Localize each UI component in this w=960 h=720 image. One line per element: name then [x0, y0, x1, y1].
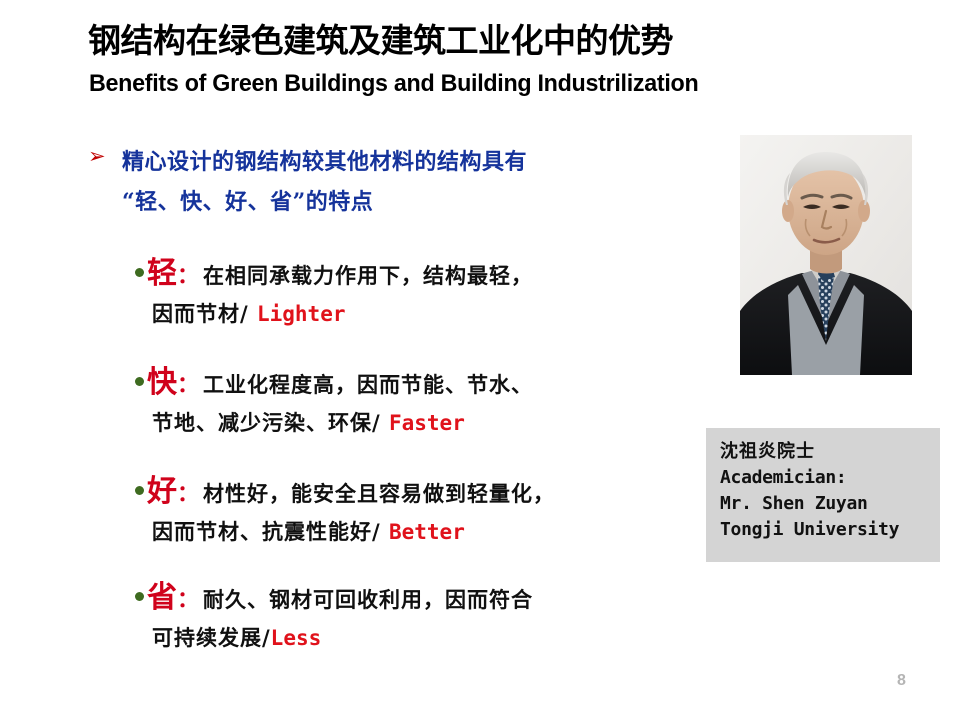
sub-bullet-sheng: 省 ： 耐久、钢材可回收利用，因而符合 可持续发展/Less: [135, 572, 735, 652]
key-colon: ：: [177, 258, 199, 290]
sub-bullet-line-1: 好 ： 材性好，能安全且容易做到轻量化，: [135, 466, 735, 510]
sub-bullet-line-2: 因而节材/ Lighter: [152, 298, 735, 328]
body-text-line1: 材性好，能安全且容易做到轻量化，: [203, 478, 555, 508]
key-colon: ：: [177, 367, 199, 399]
body-text-line2: 可持续发展/: [152, 625, 271, 650]
key-character: 好: [147, 466, 177, 510]
english-keyword: Less: [271, 626, 322, 650]
sub-bullet-kuai: 快 ： 工业化程度高，因而节能、节水、 节地、减少污染、环保/ Faster: [135, 357, 735, 437]
lead-bullet-text-line1: 精心设计的钢结构较其他材料的结构具有: [122, 142, 527, 182]
english-keyword: Lighter: [257, 302, 346, 326]
dot-bullet-icon: [135, 486, 144, 495]
sub-bullet-line-2: 因而节材、抗震性能好/ Better: [152, 516, 735, 546]
sub-bullet-line-1: 省 ： 耐久、钢材可回收利用，因而符合: [135, 572, 735, 616]
sub-bullet-line-1: 轻 ： 在相同承载力作用下，结构最轻，: [135, 248, 735, 292]
sub-bullet-line-2: 节地、减少污染、环保/ Faster: [152, 407, 735, 437]
english-keyword: Faster: [389, 411, 465, 435]
portrait-photo: [740, 135, 912, 375]
portrait-photo-svg: [740, 135, 912, 375]
arrow-bullet-icon: ➢: [88, 142, 122, 167]
caption-name-chinese: 沈祖炎院士: [720, 438, 940, 465]
sub-bullet-line-2: 可持续发展/Less: [152, 622, 735, 652]
caption-name-english: Mr. Shen Zuyan: [720, 491, 940, 517]
body-text-line2: 因而节材、抗震性能好/: [152, 519, 389, 544]
key-character: 快: [147, 357, 177, 401]
key-character: 轻: [147, 248, 177, 292]
page-title-english: Benefits of Green Buildings and Building…: [89, 70, 698, 98]
lead-bullet-text-line2: “轻、快、好、省”的特点: [122, 182, 708, 222]
english-keyword: Better: [389, 520, 465, 544]
body-text-line2: 节地、减少污染、环保/: [152, 410, 389, 435]
key-colon: ：: [177, 476, 199, 508]
slide-canvas: 钢结构在绿色建筑及建筑工业化中的优势 Benefits of Green Bui…: [0, 0, 960, 720]
body-text-line2: 因而节材/: [152, 301, 257, 326]
lead-bullet-line-1: ➢ 精心设计的钢结构较其他材料的结构具有: [88, 142, 708, 182]
page-number: 8: [897, 672, 906, 690]
caption-affiliation: Tongji University: [720, 517, 940, 543]
sub-bullet-hao: 好 ： 材性好，能安全且容易做到轻量化， 因而节材、抗震性能好/ Better: [135, 466, 735, 546]
body-text-line1: 工业化程度高，因而节能、节水、: [203, 369, 533, 399]
key-colon: ：: [177, 582, 199, 614]
lead-bullet-block: ➢ 精心设计的钢结构较其他材料的结构具有 “轻、快、好、省”的特点: [88, 142, 708, 222]
body-text-line1: 在相同承载力作用下，结构最轻，: [203, 260, 533, 290]
caption-academician-label: Academician:: [720, 465, 940, 491]
page-title-chinese: 钢结构在绿色建筑及建筑工业化中的优势: [88, 14, 673, 62]
dot-bullet-icon: [135, 268, 144, 277]
caption-box: 沈祖炎院士 Academician: Mr. Shen Zuyan Tongji…: [706, 428, 940, 562]
dot-bullet-icon: [135, 377, 144, 386]
dot-bullet-icon: [135, 592, 144, 601]
body-text-line1: 耐久、钢材可回收利用，因而符合: [203, 584, 533, 614]
sub-bullet-qing: 轻 ： 在相同承载力作用下，结构最轻， 因而节材/ Lighter: [135, 248, 735, 328]
sub-bullet-line-1: 快 ： 工业化程度高，因而节能、节水、: [135, 357, 735, 401]
key-character: 省: [147, 572, 177, 616]
